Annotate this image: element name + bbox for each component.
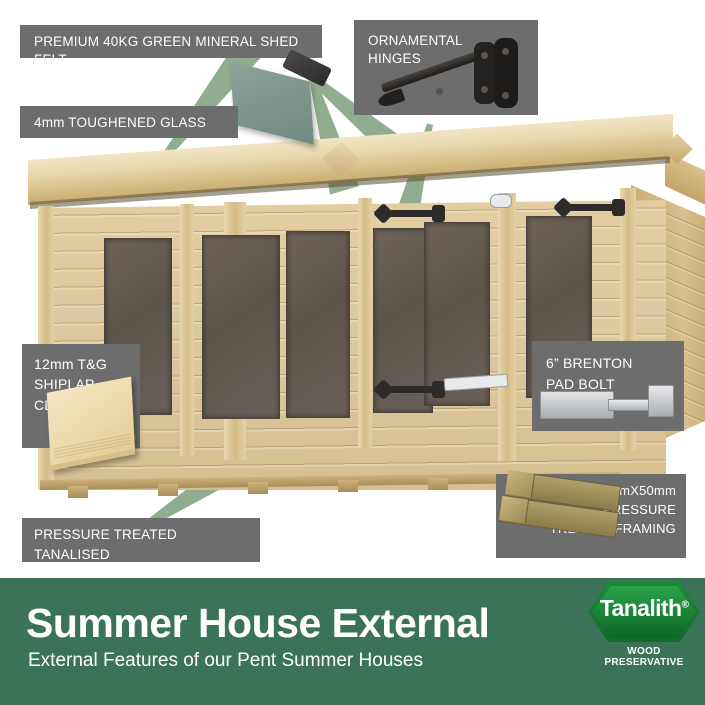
hinge-tip	[377, 88, 406, 109]
logo-tagline: WOOD PRESERVATIVE	[588, 646, 700, 668]
summer-house-graphic	[28, 138, 688, 518]
window-post-3	[358, 198, 372, 448]
hinge-stud	[481, 52, 488, 59]
page-title: Summer House External	[26, 600, 489, 647]
logo-brand-name: Tanalith®	[588, 595, 700, 622]
callout-roof-felt[interactable]: PREMIUM 40KG GREEN MINERAL SHED FELT	[20, 25, 322, 58]
base-foot	[68, 486, 88, 498]
pad-bolt-keep	[648, 385, 674, 417]
base-foot	[248, 482, 268, 494]
felt-roll-icon	[232, 58, 328, 136]
pad-bolt-plate	[540, 391, 614, 419]
callout-pressure-line1: PRESSURE TREATED TANALISED	[34, 525, 248, 564]
callout-pressure-treated[interactable]: PRESSURE TREATED TANALISED TIMBER MATERI…	[22, 518, 260, 562]
registered-mark-icon: ®	[681, 599, 688, 610]
page-subtitle: External Features of our Pent Summer Hou…	[28, 650, 423, 672]
hinge-stud	[502, 92, 509, 99]
hinge-stud	[436, 88, 443, 95]
timber-end-grain	[499, 496, 529, 524]
window-post-1	[180, 204, 194, 456]
product-feature-infographic: PREMIUM 40KG GREEN MINERAL SHED FELT ORN…	[0, 0, 705, 705]
shiplap-board-icon	[47, 376, 135, 470]
ornamental-hinge-top-left	[380, 210, 442, 217]
logo-brand-text: Tanalith	[600, 595, 682, 621]
framing-timber-icon	[500, 478, 620, 544]
callout-cladding-line1: 12mm T&G	[34, 354, 128, 374]
callout-toughened-glass[interactable]: 4mm TOUGHENED GLASS	[20, 106, 238, 138]
window-pane	[286, 231, 350, 418]
shed-illustration-area: PREMIUM 40KG GREEN MINERAL SHED FELT ORN…	[0, 0, 705, 578]
callout-pressure-line2: TIMBER MATERIAL THROUGHOUT.	[34, 564, 248, 578]
tanalith-logo: Tanalith® WOOD PRESERVATIVE	[588, 582, 700, 668]
door-post-center	[498, 193, 516, 461]
ornamental-hinge-icon	[378, 40, 528, 110]
base-foot	[428, 478, 448, 490]
hinge-stud	[502, 48, 509, 55]
ornamental-hinge-bottom-left	[380, 386, 442, 393]
base-foot	[338, 480, 358, 492]
pad-bolt-icon	[540, 383, 674, 423]
door-catch	[490, 194, 512, 208]
hinge-stud	[481, 86, 488, 93]
base-foot	[158, 484, 178, 496]
callout-padbolt-line1: 6” BRENTON	[546, 353, 670, 374]
callout-glass-label: 4mm TOUGHENED GLASS	[34, 115, 206, 130]
window-pane	[202, 235, 280, 419]
ornamental-hinge-top-right	[560, 204, 622, 211]
timber-end-grain	[505, 470, 535, 498]
